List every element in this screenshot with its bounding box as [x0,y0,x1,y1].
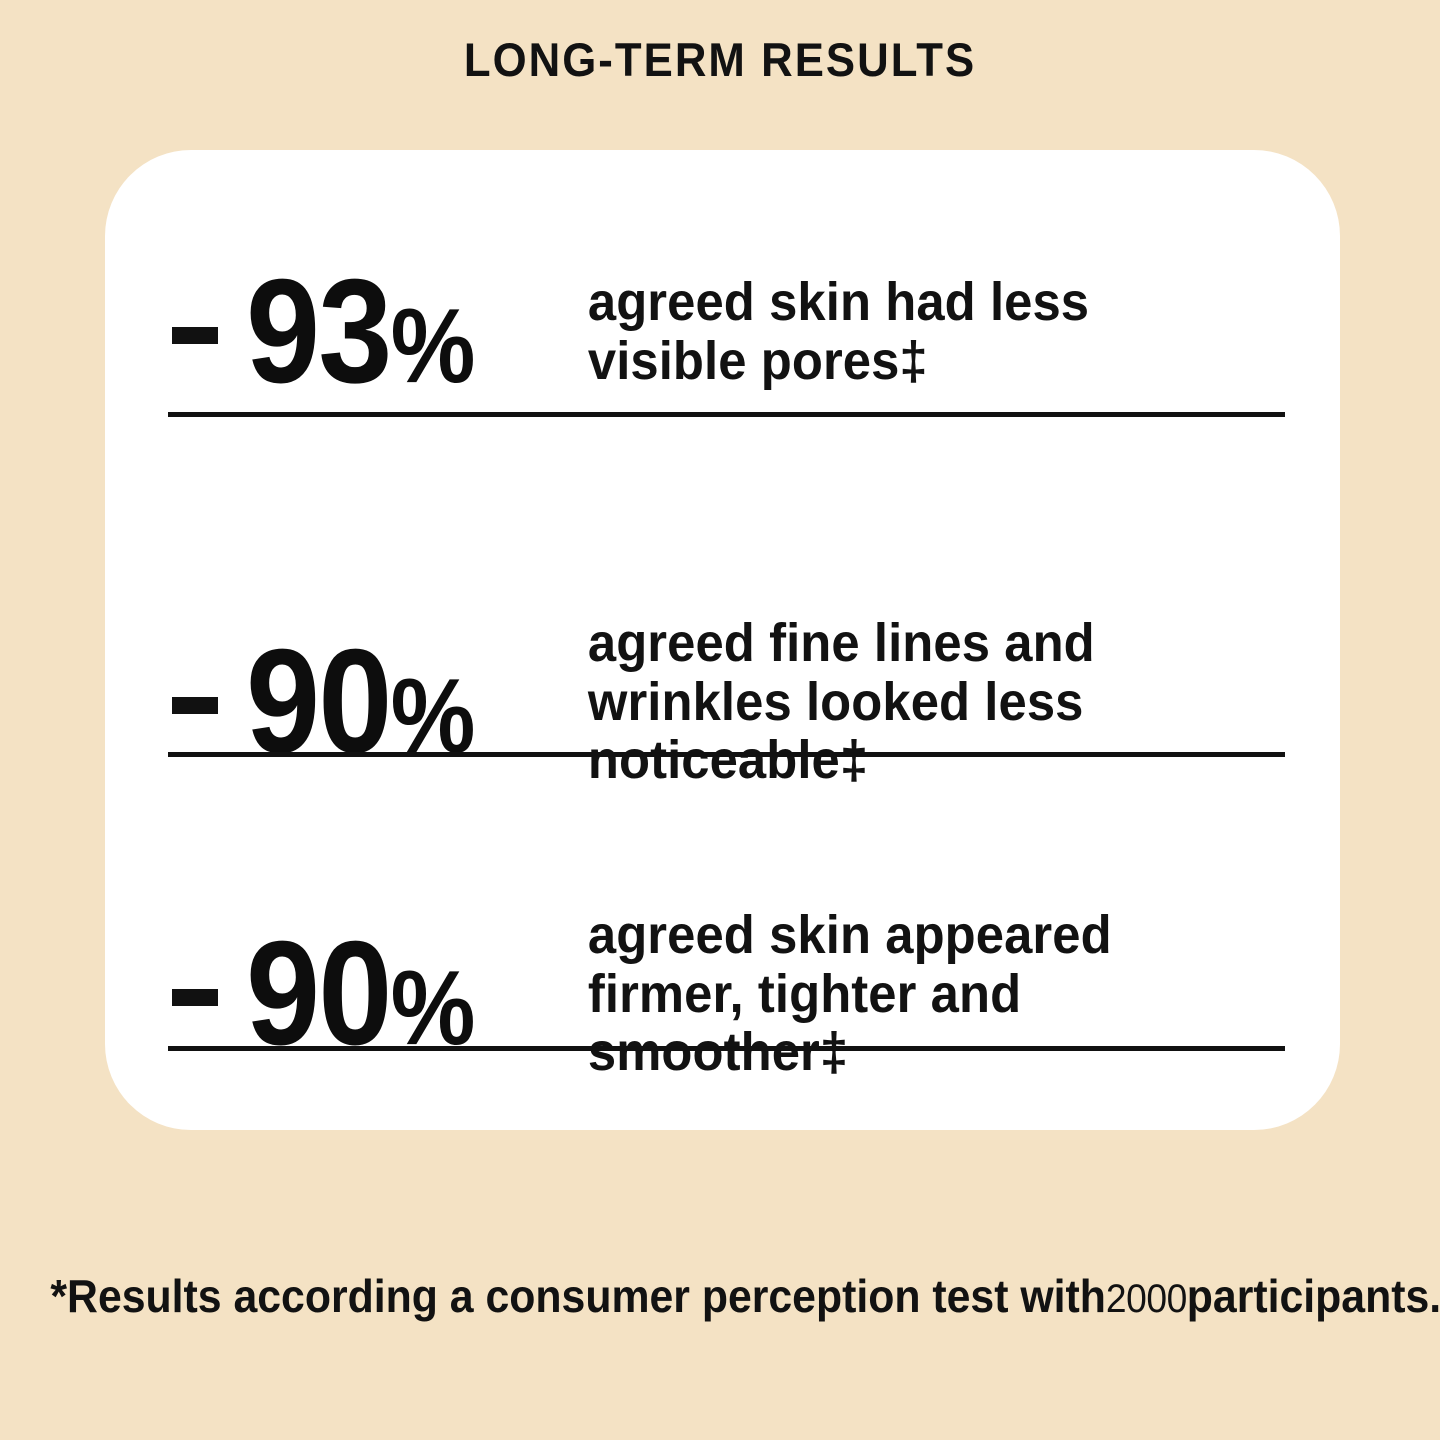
stat-description: agreed fine lines and wrinkles looked le… [586,614,1243,791]
stat-row: 90% agreed fine lines and wrinkles looke… [168,590,1285,814]
stat-figure: 93% [168,270,586,394]
percent-symbol: % [391,287,475,405]
stat-description-line: wrinkles looked less [588,673,1243,732]
footnote-participant-count: 2000 [1106,1277,1187,1321]
stat-description-line: visible pores‡ [588,332,1243,391]
stat-description-line: firmer, tighter and [588,965,1243,1024]
stat-row: 93% agreed skin had less visible pores‡ [168,250,1285,414]
stat-value: 90% [246,640,475,764]
minus-icon [172,697,218,714]
stat-number: 93 [246,249,391,414]
results-infographic: LONG-TERM RESULTS 93% agreed skin had le… [0,0,1440,1440]
stat-figure: 90% [168,932,586,1056]
footnote-prefix: *Results according a consumer perception… [50,1270,1105,1322]
percent-symbol: % [391,657,475,775]
stat-description: agreed skin had less visible pores‡ [586,273,1243,391]
stat-description-line: noticeable‡ [588,731,1243,790]
footnote: *Results according a consumer perception… [50,1272,1389,1320]
row-divider [168,412,1285,417]
stats-list: 93% agreed skin had less visible pores‡ … [168,150,1285,1130]
page-title: LONG-TERM RESULTS [50,36,1389,83]
stat-value: 90% [246,932,475,1056]
minus-icon [172,327,218,344]
stat-number: 90 [246,619,391,784]
stat-description-line: smoother‡ [588,1023,1243,1082]
stat-description-line: agreed skin appeared [588,906,1243,965]
footnote-suffix: participants. [1187,1270,1440,1322]
stat-description-line: agreed skin had less [588,273,1243,332]
row-divider [168,1046,1285,1051]
row-divider [168,752,1285,757]
stat-value: 93% [246,270,475,394]
stat-description: agreed skin appeared firmer, tighter and… [586,906,1243,1083]
stat-row: 90% agreed skin appeared firmer, tighter… [168,882,1285,1106]
stat-description-line: agreed fine lines and [588,614,1243,673]
stat-figure: 90% [168,640,586,764]
minus-icon [172,989,218,1006]
stat-number: 90 [246,911,391,1076]
results-card: 93% agreed skin had less visible pores‡ … [105,150,1340,1130]
